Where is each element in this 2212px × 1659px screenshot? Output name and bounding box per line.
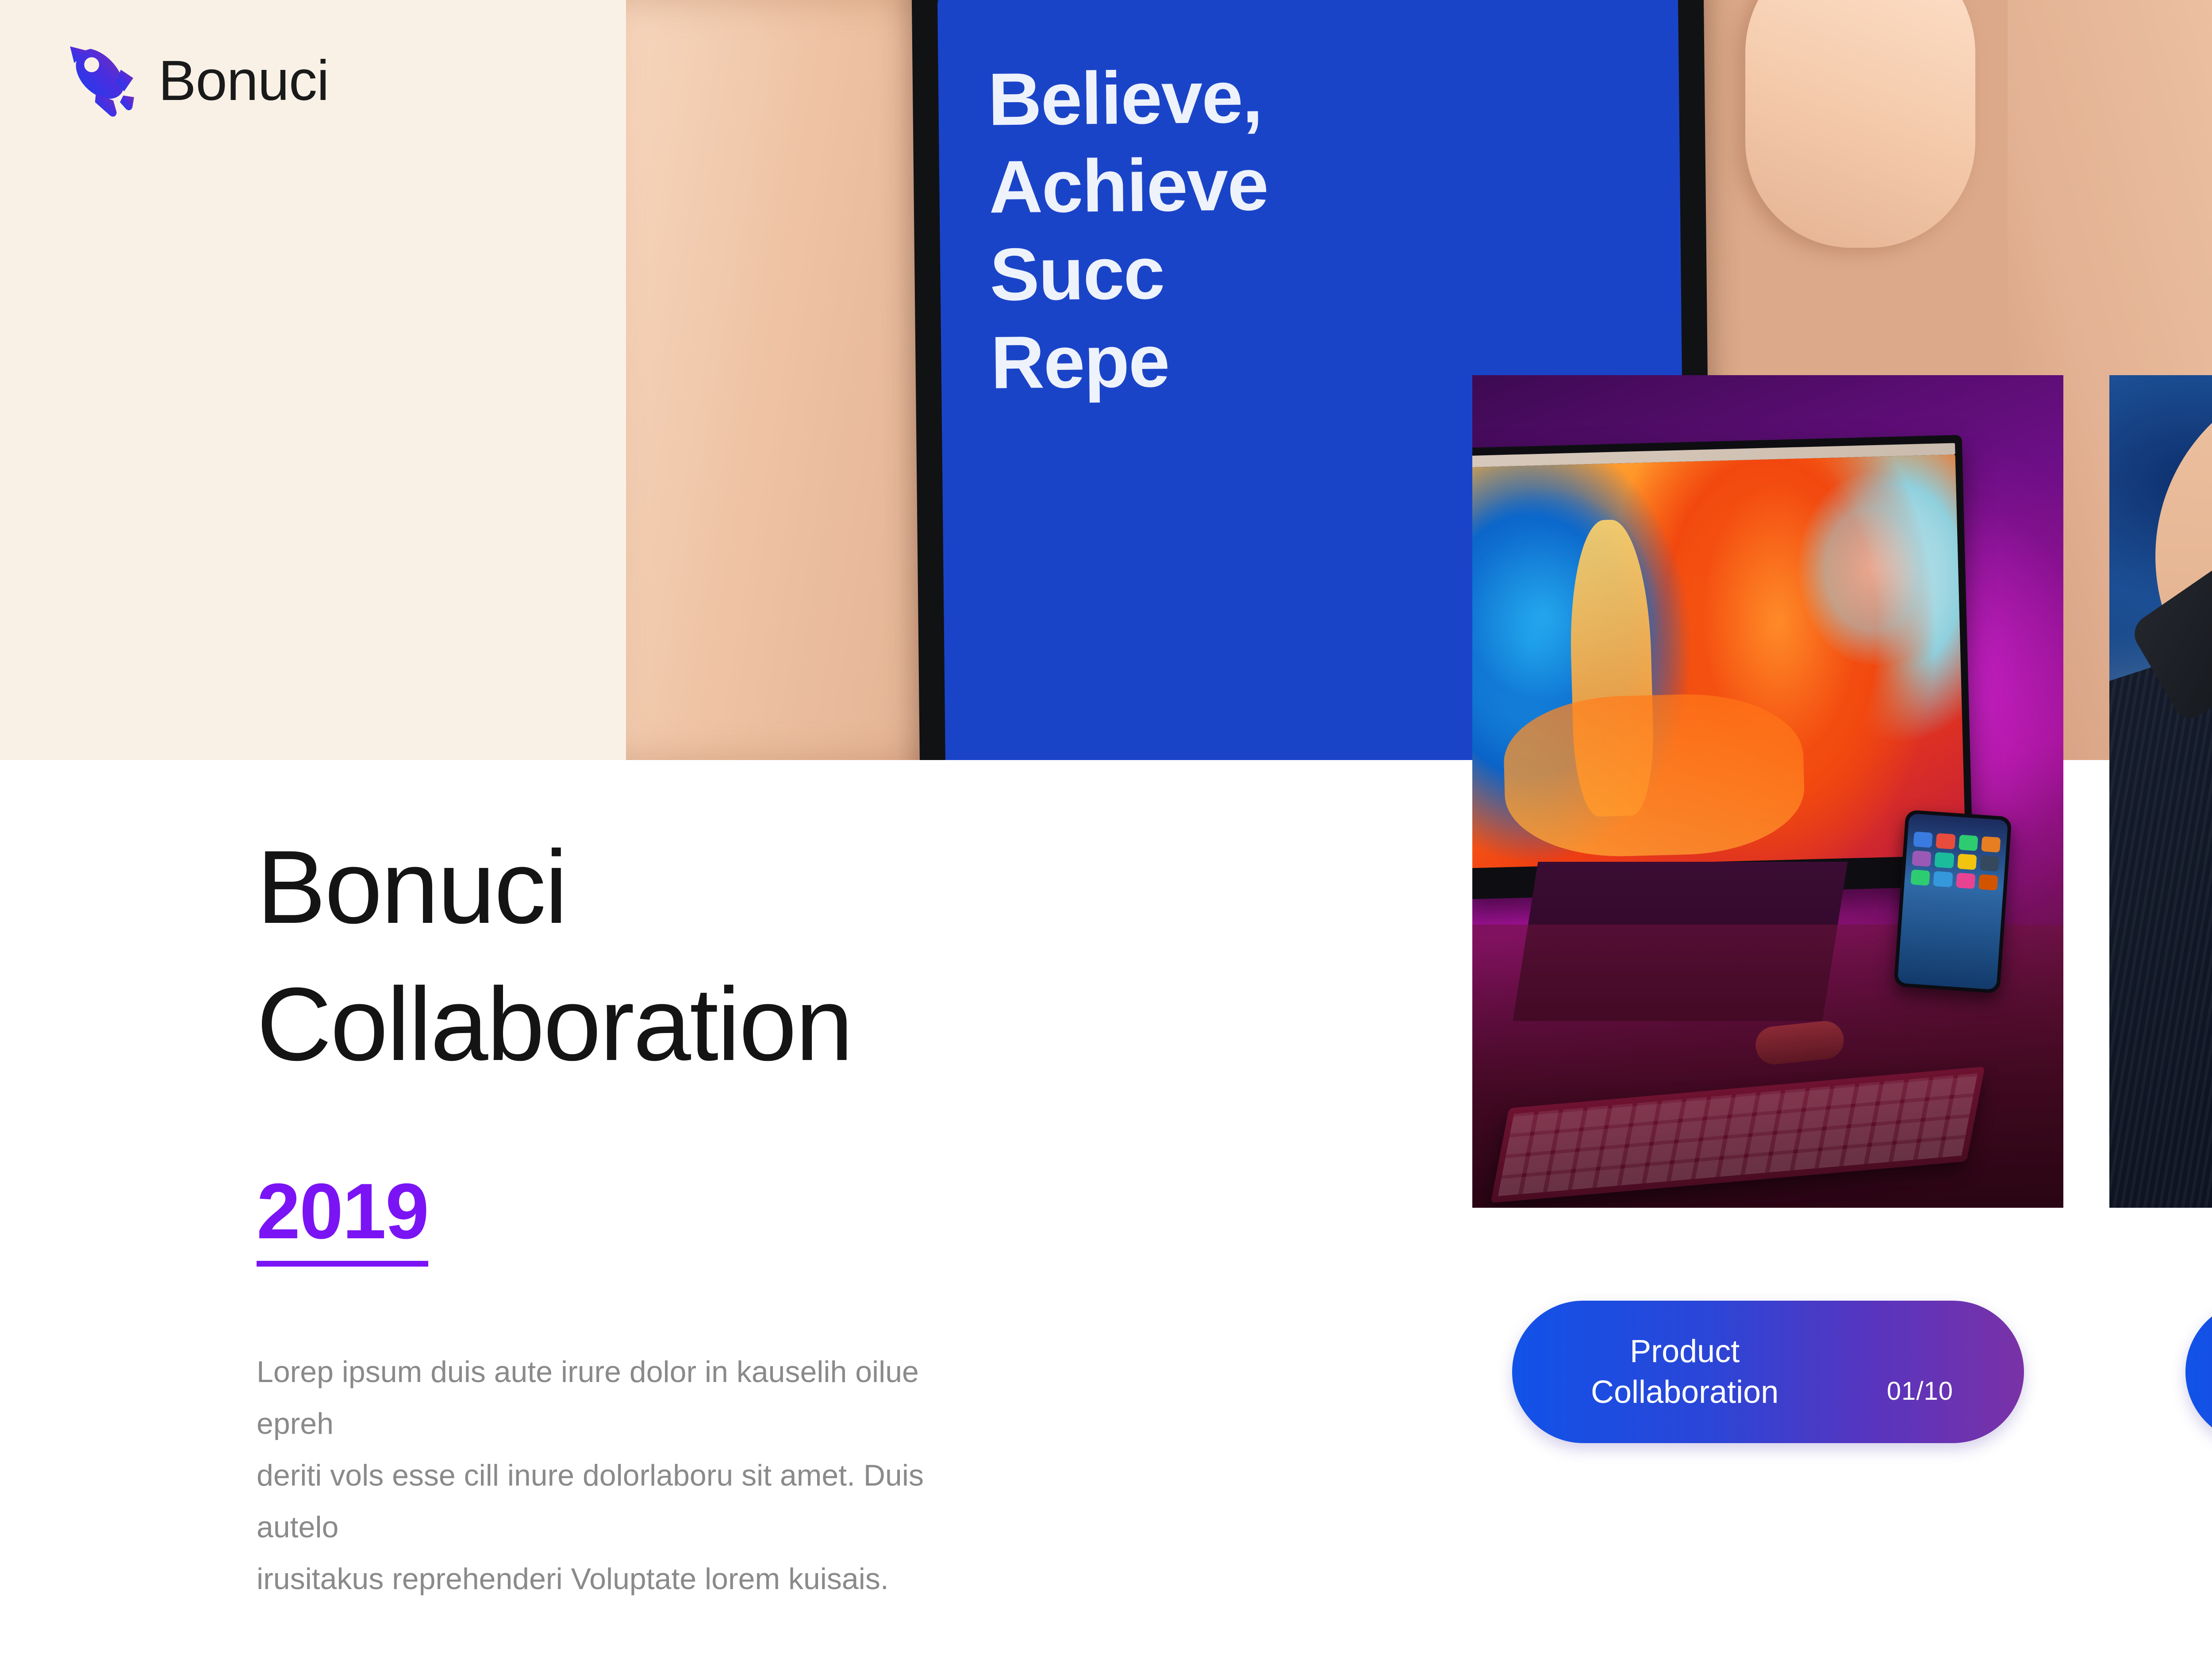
product-collaboration-button-2[interactable]: Product Collaboration 01/10 (2185, 1301, 2212, 1443)
monitor-device (1472, 435, 1974, 899)
year-link[interactable]: 2019 (257, 1166, 428, 1267)
hand-thumb (1745, 0, 1975, 248)
brand-name: Bonuci (158, 48, 329, 113)
phone-quote: Believe, Achieve Succ Repe (938, 53, 1270, 407)
quote-line-3: Succ (940, 228, 1269, 319)
phone-on-stand (1893, 810, 2012, 994)
product-image-card-watch[interactable]: 3° -4 4 NO EVENTS TODAY 0.0 257 · 07 · 0… (2109, 375, 2212, 1208)
desk-photo (1472, 375, 2063, 1208)
monitor-wallpaper (1472, 454, 1966, 868)
product-image-card-desk[interactable] (1472, 375, 2063, 1208)
content-column: Bonuci Collaboration 2019 Lorep ipsum du… (257, 818, 1186, 1605)
body-paragraph: Lorep ipsum duis aute irure dolor in kau… (257, 1346, 964, 1605)
quote-line-4: Repe (941, 316, 1270, 407)
quote-line-1: Believe, (938, 53, 1267, 144)
rocket-icon (58, 39, 142, 122)
phone-stand-screen (1897, 814, 2008, 990)
brand-logo[interactable]: Bonuci (58, 39, 329, 122)
watch-photo: 3° -4 4 NO EVENTS TODAY 0.0 257 · 07 · 0… (2109, 375, 2212, 1208)
pill-count-1: 01/10 (1887, 1376, 1953, 1406)
quote-line-2: Achieve (939, 140, 1268, 231)
page-title: Bonuci Collaboration (257, 818, 1186, 1093)
pill-label-1: Product Collaboration (1591, 1331, 1778, 1413)
product-collaboration-button-1[interactable]: Product Collaboration 01/10 (1512, 1301, 2024, 1443)
phone-app-grid (1910, 832, 2001, 891)
